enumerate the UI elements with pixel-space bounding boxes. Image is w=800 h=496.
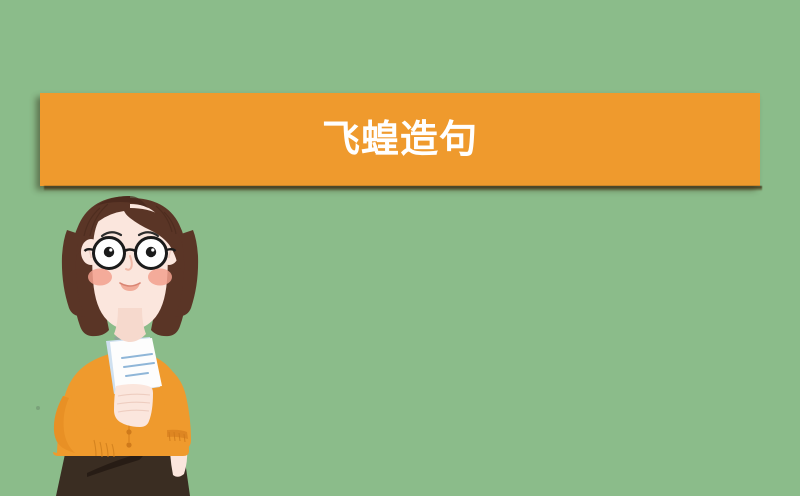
neck-shape <box>114 308 146 342</box>
page-root: 飞蝗造句 <box>0 0 800 496</box>
left-hand-shape <box>114 384 153 427</box>
title-banner: 飞蝗造句 <box>40 93 760 186</box>
page-title: 飞蝗造句 <box>322 121 478 159</box>
teacher-illustration <box>30 190 230 496</box>
